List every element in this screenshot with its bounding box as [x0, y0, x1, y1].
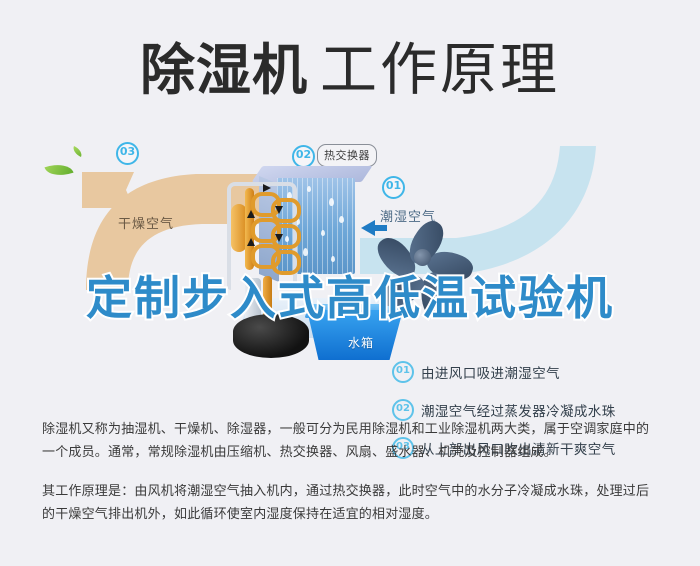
flow-arrow-down-icon: [275, 206, 283, 214]
flow-arrow-right-icon: [263, 184, 271, 192]
title-bold-part: 除湿机: [140, 39, 308, 101]
water-tank-label: 水箱: [348, 334, 374, 351]
flow-arrow-up-icon: [247, 238, 255, 246]
dehumidifier-diagram: 03 02 01 干燥空气 潮湿空气 热交换器: [0, 118, 700, 383]
water-droplet-icon: [321, 230, 325, 236]
leaf-icon: [44, 159, 73, 180]
water-droplet-icon: [329, 198, 334, 206]
water-droplet-icon: [307, 186, 311, 192]
watermark-overlay-text: 定制步入式高低温试验机: [0, 262, 700, 328]
flow-arrow-up-icon: [247, 210, 255, 218]
leaf-icon: [71, 146, 84, 157]
page-title: 除湿机工作原理: [0, 24, 700, 106]
title-light-part: 工作原理: [320, 38, 560, 102]
infographic-page: 除湿机工作原理 03 02 01 干燥空气 潮湿空气 热交换器: [0, 0, 700, 566]
description-paragraph-2: 其工作原理是：由风机将潮湿空气抽入机内，通过热交换器，此时空气中的水分子冷凝成水…: [42, 480, 662, 526]
water-droplet-icon: [303, 248, 308, 256]
description-text: 除湿机又称为抽湿机、干燥机、除湿器，一般可分为民用除湿机和工业除湿机两大类，属于…: [42, 418, 662, 542]
water-droplet-icon: [339, 216, 344, 223]
flow-arrow-down-icon: [275, 234, 283, 242]
badge-dry-air: 03: [116, 142, 139, 165]
dry-air-label: 干燥空气: [118, 213, 174, 232]
legend-item-label: 由进风口吸进潮湿空气: [421, 362, 560, 382]
legend-item: 01 由进风口吸进潮湿空气: [392, 361, 692, 383]
legend-item-label: 潮湿空气经过蒸发器冷凝成水珠: [421, 400, 616, 420]
legend-badge: 01: [392, 361, 414, 383]
description-paragraph-1: 除湿机又称为抽湿机、干燥机、除湿器，一般可分为民用除湿机和工业除湿机两大类，属于…: [42, 418, 662, 464]
